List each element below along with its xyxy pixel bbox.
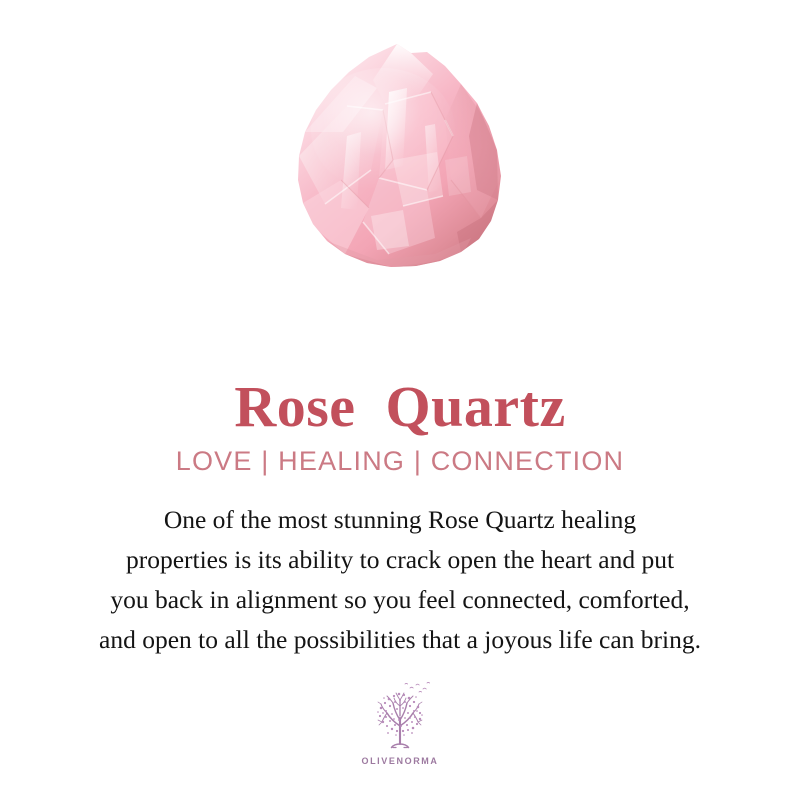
description-line: properties is its ability to crack open … xyxy=(30,540,770,580)
crystal-facets xyxy=(299,44,501,270)
description-line: you back in alignment so you feel connec… xyxy=(30,580,770,620)
brand-name: OLIVENORMA xyxy=(361,756,438,766)
product-image xyxy=(0,40,800,290)
description-line: One of the most stunning Rose Quartz hea… xyxy=(30,500,770,540)
page-title: Rose Quartz xyxy=(0,375,800,439)
brand-logo: OLIVENORMA xyxy=(0,678,800,766)
product-card: Rose Quartz LOVE | HEALING | CONNECTION … xyxy=(0,0,800,800)
birds-icon xyxy=(405,682,430,692)
rose-quartz-crystal-icon xyxy=(285,40,515,275)
description-line: and open to all the possibilities that a… xyxy=(30,620,770,660)
product-keywords: LOVE | HEALING | CONNECTION xyxy=(0,444,800,478)
tree-of-life-icon xyxy=(363,678,437,754)
product-description: One of the most stunning Rose Quartz hea… xyxy=(30,500,770,660)
